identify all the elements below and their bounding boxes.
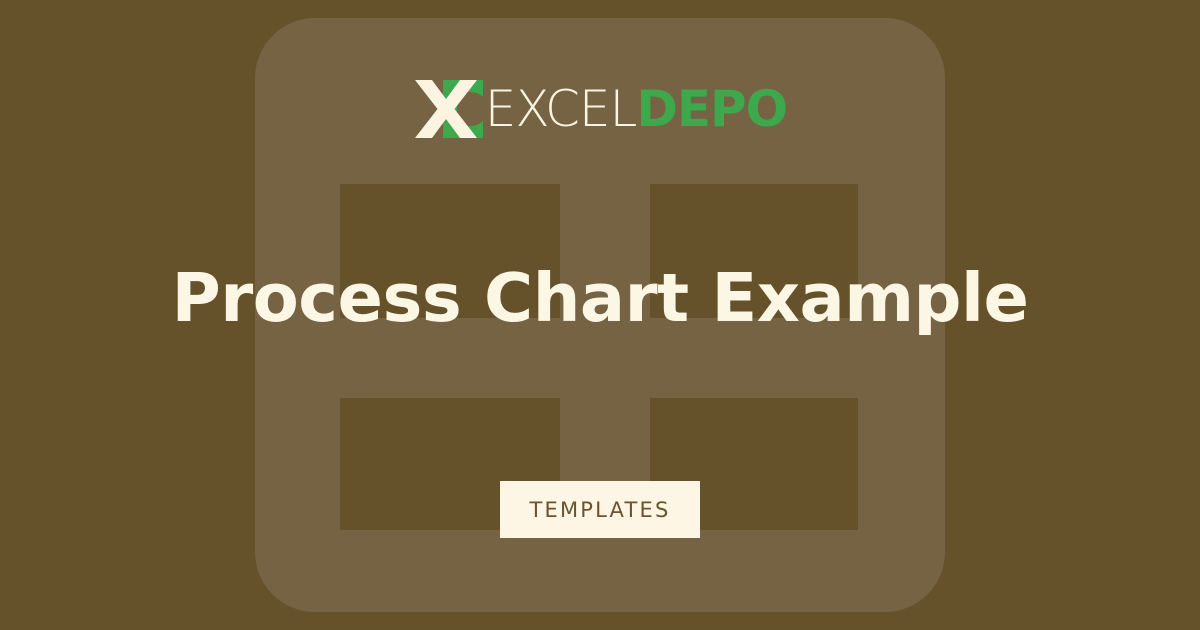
brand-logo[interactable]: EXCELDEPO <box>0 78 1200 140</box>
brand-wordmark: EXCELDEPO <box>485 78 787 140</box>
templates-badge-label: TEMPLATES <box>529 498 670 522</box>
banner-root: EXCELDEPO Process Chart Example TEMPLATE… <box>0 0 1200 630</box>
xd-logo-icon <box>413 78 483 140</box>
templates-badge[interactable]: TEMPLATES <box>500 481 700 538</box>
brand-word-depo: DEPO <box>636 80 787 138</box>
brand-word-excel: EXCEL <box>485 80 637 138</box>
page-title: Process Chart Example <box>0 255 1200 341</box>
